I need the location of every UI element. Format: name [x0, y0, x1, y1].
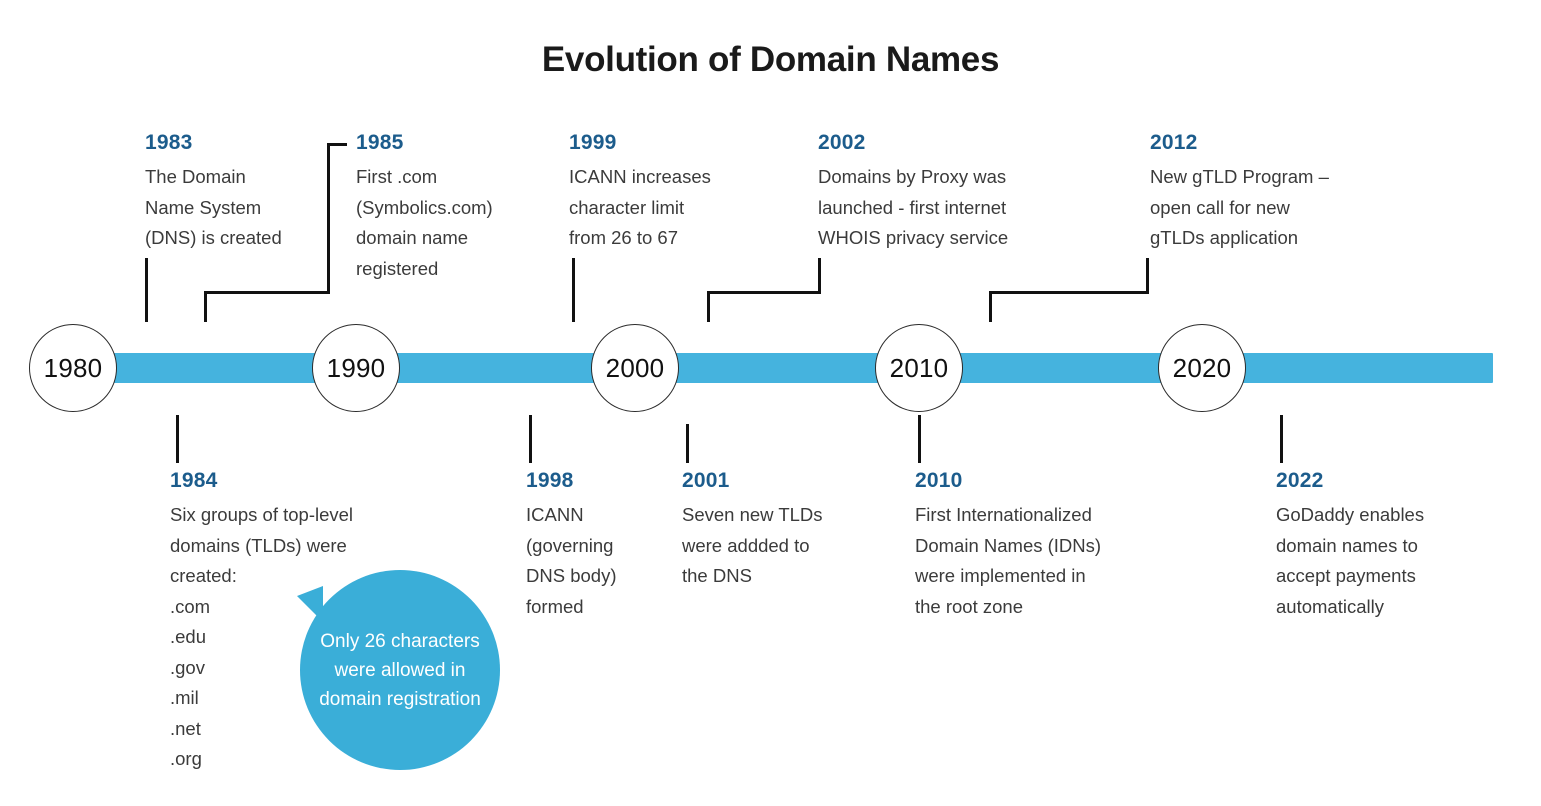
timeline-node-label: 2020: [1173, 353, 1232, 384]
event-description: The Domain Name System (DNS) is created: [145, 162, 345, 254]
timeline-bar: [48, 353, 1493, 383]
page-title: Evolution of Domain Names: [0, 40, 1541, 80]
event-year: 2010: [915, 469, 1165, 493]
event-2010: 2010 First Internationalized Domain Name…: [915, 469, 1165, 622]
event-description: ICANN (governing DNS body) formed: [526, 500, 686, 622]
connector-1984: [176, 415, 179, 463]
callout-text: Only 26 characters were allowed in domai…: [318, 627, 482, 714]
timeline-node-1990[interactable]: 1990: [312, 324, 400, 412]
event-description: First Internationalized Domain Names (ID…: [915, 500, 1165, 622]
event-year: 1983: [145, 131, 345, 155]
event-description: New gTLD Program – open call for new gTL…: [1150, 162, 1430, 254]
event-description: Domains by Proxy was launched - first in…: [818, 162, 1108, 254]
connector-2001: [686, 424, 689, 463]
timeline-node-label: 2000: [606, 353, 665, 384]
event-year: 2002: [818, 131, 1108, 155]
timeline-node-2020[interactable]: 2020: [1158, 324, 1246, 412]
event-description: Seven new TLDs were addded to the DNS: [682, 500, 882, 592]
event-1999: 1999 ICANN increases character limit fro…: [569, 131, 799, 254]
event-2001: 2001 Seven new TLDs were addded to the D…: [682, 469, 882, 592]
timeline-node-label: 2010: [890, 353, 949, 384]
connector-1985-lower-vertical: [204, 291, 207, 322]
connector-1985-horizontal: [204, 291, 330, 294]
connector-2002-horizontal: [707, 291, 821, 294]
timeline-node-2000[interactable]: 2000: [591, 324, 679, 412]
event-year: 2012: [1150, 131, 1430, 155]
connector-2012-lower-vertical: [989, 291, 992, 322]
event-2002: 2002 Domains by Proxy was launched - fir…: [818, 131, 1108, 254]
event-description: GoDaddy enables domain names to accept p…: [1276, 500, 1516, 622]
timeline-node-1980[interactable]: 1980: [29, 324, 117, 412]
event-year: 1998: [526, 469, 686, 493]
event-year: 1984: [170, 469, 420, 493]
event-1998: 1998 ICANN (governing DNS body) formed: [526, 469, 686, 622]
event-description: First .com (Symbolics.com) domain name r…: [356, 162, 556, 284]
event-year: 1985: [356, 131, 556, 155]
connector-2012-upper-vertical: [1146, 258, 1149, 294]
event-1983: 1983 The Domain Name System (DNS) is cre…: [145, 131, 345, 254]
event-2022: 2022 GoDaddy enables domain names to acc…: [1276, 469, 1516, 622]
event-2012: 2012 New gTLD Program – open call for ne…: [1150, 131, 1430, 254]
connector-2002-upper-vertical: [818, 258, 821, 294]
connector-2012-horizontal: [989, 291, 1149, 294]
connector-1998: [529, 415, 532, 463]
event-year: 1999: [569, 131, 799, 155]
timeline-node-label: 1980: [44, 353, 103, 384]
connector-2022: [1280, 415, 1283, 463]
infographic-canvas: Evolution of Domain Names 1980 1990 2000…: [0, 0, 1541, 806]
timeline-node-2010[interactable]: 2010: [875, 324, 963, 412]
connector-1983: [145, 258, 148, 322]
timeline-node-label: 1990: [327, 353, 386, 384]
connector-2010: [918, 415, 921, 463]
connector-2002-lower-vertical: [707, 291, 710, 322]
event-description: ICANN increases character limit from 26 …: [569, 162, 799, 254]
event-year: 2022: [1276, 469, 1516, 493]
event-year: 2001: [682, 469, 882, 493]
callout-bubble: Only 26 characters were allowed in domai…: [300, 570, 500, 770]
connector-1999: [572, 258, 575, 322]
event-1985: 1985 First .com (Symbolics.com) domain n…: [356, 131, 556, 284]
